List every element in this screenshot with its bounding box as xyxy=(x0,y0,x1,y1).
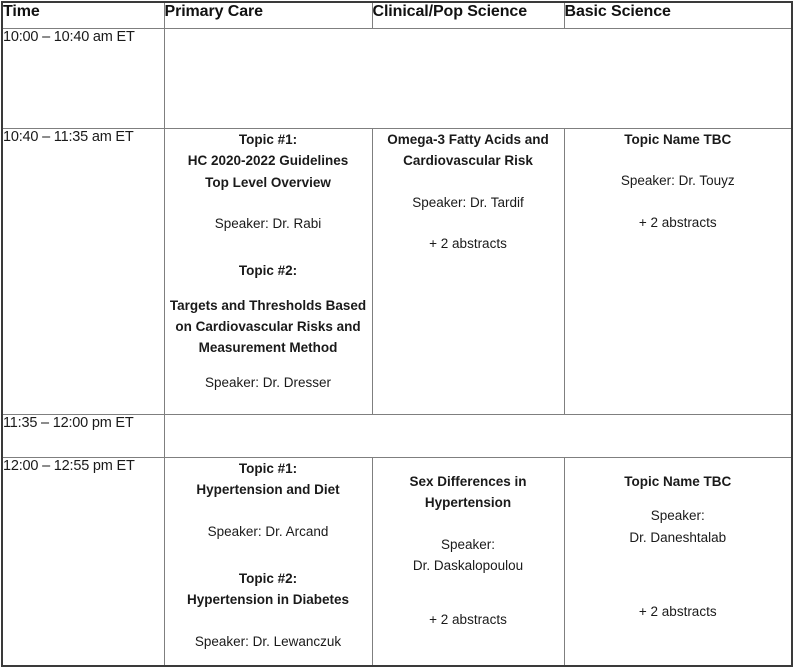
session-abstracts: + 2 abstracts xyxy=(565,601,792,622)
session-title-line-2: Hypertension xyxy=(373,492,564,513)
session-abstracts: + 2 abstracts xyxy=(565,212,792,233)
spacer xyxy=(373,458,564,471)
column-header-time: Time xyxy=(2,2,164,29)
session-speaker-block: Speaker: Dr. Daskalopoulou xyxy=(373,534,564,577)
time-slot-plenary: 10:00 – 10:40 am ET xyxy=(2,29,164,129)
spacer xyxy=(165,234,372,260)
time-slot-session-1: 10:40 – 11:35 am ET xyxy=(2,129,164,415)
spacer xyxy=(565,458,792,471)
plenary-banner-cell: Opening Plenary The Changing Landscape o… xyxy=(164,29,792,129)
topic-1-block: Topic #1: HC 2020-2022 Guidelines Top Le… xyxy=(165,129,372,193)
spacer xyxy=(165,359,372,372)
session-speaker-label: Speaker: xyxy=(373,534,564,555)
session-abstracts-block: + 2 abstracts xyxy=(373,233,564,254)
topic-2-speaker: Speaker: Dr. Dresser xyxy=(165,372,372,393)
topic-2-speaker: Speaker: Dr. Lewanczuk xyxy=(165,631,372,652)
table-row: 10:40 – 11:35 am ET Topic #1: HC 2020-20… xyxy=(2,129,792,415)
topic-1-speaker-block: Speaker: Dr. Arcand xyxy=(165,521,372,542)
session-speaker-block: Speaker: Dr. Daneshtalab xyxy=(565,505,792,548)
topic-1-label: Topic #1: xyxy=(165,458,372,479)
column-header-primary-care: Primary Care xyxy=(164,2,372,29)
topic-2-title-line-1: Hypertension in Diabetes xyxy=(165,589,372,610)
table-row: 12:00 – 12:55 pm ET Topic #1: Hypertensi… xyxy=(2,458,792,667)
session-basic-science-1: Topic Name TBC Speaker: Dr. Touyz + 2 ab… xyxy=(564,129,792,415)
topic-2-label: Topic #2: xyxy=(165,260,372,281)
table-body: 10:00 – 10:40 am ET Opening Plenary The … xyxy=(2,29,792,667)
session-speaker: Speaker: Dr. Tardif xyxy=(373,192,564,213)
session-abstracts: + 2 abstracts xyxy=(373,233,564,254)
topic-1-block: Topic #1: Hypertension and Diet xyxy=(165,458,372,501)
spacer xyxy=(165,501,372,521)
spacer xyxy=(373,576,564,609)
session-speaker-name: Dr. Daskalopoulou xyxy=(373,555,564,576)
spacer xyxy=(373,213,564,233)
session-title-line-1: Sex Differences in xyxy=(373,471,564,492)
topic-2-block: Topic #2: Hypertension in Diabetes xyxy=(165,568,372,611)
spacer xyxy=(565,548,792,581)
plenary-spacer xyxy=(165,59,792,78)
session-title-line-2: Cardiovascular Risk xyxy=(373,150,564,171)
session-abstracts-block: + 2 abstracts xyxy=(565,212,792,233)
session-basic-science-2: Topic Name TBC Speaker: Dr. Daneshtalab … xyxy=(564,458,792,667)
topic-2-title-line-1: Targets and Thresholds Based xyxy=(165,295,372,316)
spacer xyxy=(565,150,792,170)
spacer xyxy=(165,193,372,213)
topic-1-speaker: Speaker: Dr. Arcand xyxy=(165,521,372,542)
session-speaker: Speaker: Dr. Touyz xyxy=(565,170,792,191)
session-speaker-block: Speaker: Dr. Touyz xyxy=(565,170,792,191)
session-speaker-name: Dr. Daneshtalab xyxy=(565,527,792,548)
session-title-block: Sex Differences in Hypertension xyxy=(373,471,564,514)
topic-2-block: Topic #2: xyxy=(165,260,372,281)
topic-2-speaker-block: Speaker: Dr. Dresser xyxy=(165,372,372,393)
plenary-title: Opening Plenary xyxy=(263,40,370,55)
topic-2-title-block: Targets and Thresholds Based on Cardiova… xyxy=(165,295,372,359)
plenary-speakers: Speakers: Dr. Leung, Dr. Harvey xyxy=(381,81,575,96)
session-primary-care-1: Topic #1: HC 2020-2022 Guidelines Top Le… xyxy=(164,129,372,415)
spacer xyxy=(565,492,792,505)
topic-1-title-line-1: HC 2020-2022 Guidelines xyxy=(165,150,372,171)
spacer xyxy=(565,192,792,212)
session-clinical-pop-science-2: Sex Differences in Hypertension Speaker:… xyxy=(372,458,564,667)
plenary-subtitle: The Changing Landscape of Hypertension i… xyxy=(374,40,692,55)
table-row: 11:35 – 12:00 pm ET Break xyxy=(2,415,792,458)
session-title: Topic Name TBC xyxy=(565,471,792,492)
session-abstracts-block: + 2 abstracts xyxy=(373,609,564,630)
session-title-block: Topic Name TBC xyxy=(565,129,792,150)
spacer xyxy=(373,172,564,192)
topic-1-speaker-block: Speaker: Dr. Rabi xyxy=(165,213,372,234)
column-header-clinical-pop-science: Clinical/Pop Science xyxy=(372,2,564,29)
break-title: Break xyxy=(459,427,497,442)
session-abstracts: + 2 abstracts xyxy=(373,609,564,630)
topic-1-title-line-1: Hypertension and Diet xyxy=(165,479,372,500)
session-speaker-label: Speaker: xyxy=(565,505,792,526)
topic-2-speaker-block: Speaker: Dr. Lewanczuk xyxy=(165,631,372,652)
spacer xyxy=(373,514,564,534)
topic-1-speaker: Speaker: Dr. Rabi xyxy=(165,213,372,234)
session-primary-care-2: Topic #1: Hypertension and Diet Speaker:… xyxy=(164,458,372,667)
conference-schedule-table: Time Primary Care Clinical/Pop Science B… xyxy=(1,1,793,667)
column-header-basic-science: Basic Science xyxy=(564,2,792,29)
time-slot-session-2: 12:00 – 12:55 pm ET xyxy=(2,458,164,667)
spacer xyxy=(165,282,372,295)
topic-2-title-line-3: Measurement Method xyxy=(165,337,372,358)
session-speaker-block: Speaker: Dr. Tardif xyxy=(373,192,564,213)
spacer xyxy=(165,542,372,568)
table-header: Time Primary Care Clinical/Pop Science B… xyxy=(2,2,792,29)
schedule-container: Time Primary Care Clinical/Pop Science B… xyxy=(0,0,795,668)
topic-1-title-line-2: Top Level Overview xyxy=(165,172,372,193)
session-title: Topic Name TBC xyxy=(565,129,792,150)
time-slot-break: 11:35 – 12:00 pm ET xyxy=(2,415,164,458)
spacer xyxy=(565,581,792,601)
session-title-block: Topic Name TBC xyxy=(565,471,792,492)
session-title-line-1: Omega-3 Fatty Acids and xyxy=(373,129,564,150)
topic-2-label: Topic #2: xyxy=(165,568,372,589)
topic-1-label: Topic #1: xyxy=(165,129,372,150)
spacer xyxy=(165,611,372,631)
session-clinical-pop-science-1: Omega-3 Fatty Acids and Cardiovascular R… xyxy=(372,129,564,415)
header-row: Time Primary Care Clinical/Pop Science B… xyxy=(2,2,792,29)
topic-2-title-line-2: on Cardiovascular Risks and xyxy=(165,316,372,337)
session-abstracts-block: + 2 abstracts xyxy=(565,601,792,622)
break-banner-cell: Break xyxy=(164,415,792,458)
table-row: 10:00 – 10:40 am ET Opening Plenary The … xyxy=(2,29,792,129)
session-title-block: Omega-3 Fatty Acids and Cardiovascular R… xyxy=(373,129,564,172)
